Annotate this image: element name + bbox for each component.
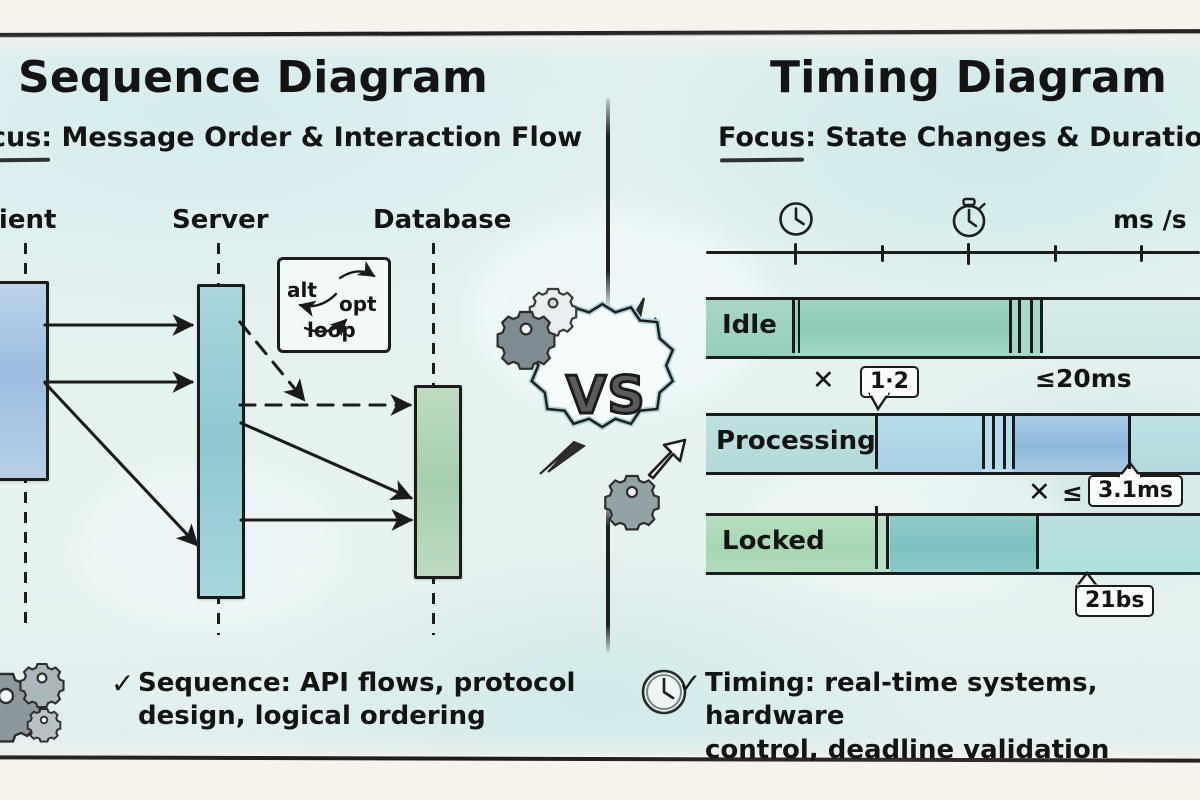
- center-divider-bottom: [606, 500, 610, 652]
- footer-note-right: Timing: real-time systems, hardware cont…: [705, 667, 1200, 767]
- timeline-axis: [706, 251, 1200, 254]
- state-transition: [982, 413, 985, 469]
- gears-icon: [0, 656, 76, 734]
- state-transition: [792, 297, 795, 353]
- state-transition: [992, 413, 995, 469]
- track-segment: [1040, 300, 1200, 356]
- checkmark-icon-left: ✓: [111, 667, 134, 700]
- page-title-right: Timing Diagram: [770, 52, 1167, 103]
- fragment-box: alt opt loop: [277, 257, 391, 353]
- clock-icon: [777, 200, 815, 238]
- state-transition: [875, 506, 878, 569]
- gear-icon: [505, 308, 547, 350]
- subtitle-left: cus: Message Order & Interaction Flow: [0, 122, 582, 153]
- axis-tick: [1140, 245, 1143, 262]
- axis-tick: [794, 243, 797, 265]
- state-transition: [798, 297, 800, 353]
- track-segment: [982, 416, 1012, 472]
- annotation-callout-21bs: 21bs: [1075, 585, 1154, 617]
- fragment-arrows-icon: [280, 260, 388, 350]
- track-label-idle: Idle: [722, 310, 777, 340]
- page-title-left: Sequence Diagram: [18, 52, 488, 103]
- axis-unit-label: ms /s: [1113, 205, 1187, 234]
- state-transition: [1036, 513, 1039, 569]
- state-transition: [1009, 297, 1012, 353]
- callout-pointer-icon: [868, 394, 890, 410]
- track-segment: [1012, 416, 1130, 472]
- axis-tick: [881, 245, 884, 262]
- stopwatch-icon: [950, 196, 990, 240]
- track-segment: [890, 516, 1038, 572]
- annotation-duration-20ms: ≤20ms: [1035, 364, 1132, 393]
- state-transition: [1003, 413, 1006, 469]
- annotation-x-mark: ✕: [812, 365, 835, 396]
- state-transition: [1128, 413, 1131, 469]
- track-segment: [795, 300, 1012, 356]
- annotation-callout-31ms: 3.1ms: [1088, 475, 1183, 507]
- track-label-locked: Locked: [722, 526, 825, 556]
- footer-note-left: Sequence: API flows, protocol design, lo…: [138, 667, 575, 734]
- arrow-up-right-icon: [645, 435, 687, 479]
- axis-tick: [967, 243, 970, 265]
- focus-underline-left: [0, 158, 50, 163]
- state-transition: [1018, 297, 1021, 353]
- axis-tick: [1054, 245, 1057, 262]
- annotation-leq-symbol: ≤: [1062, 478, 1083, 507]
- annotation-x-mark: ✕: [1028, 477, 1051, 508]
- state-transition: [1040, 297, 1043, 353]
- state-transition: [1030, 297, 1033, 353]
- track-label-processing: Processing: [716, 426, 876, 456]
- checkmark-icon-right: ✓: [678, 667, 701, 700]
- sequence-messages: [0, 180, 560, 600]
- track-segment: [877, 416, 982, 472]
- timing-track-idle: [706, 297, 1200, 359]
- state-transition: [886, 513, 889, 569]
- infographic-canvas: Sequence Diagram cus: Message Order & In…: [0, 0, 1200, 800]
- track-segment: [1038, 516, 1200, 572]
- subtitle-right: Focus: State Changes & Duration: [718, 122, 1200, 153]
- state-transition: [1012, 413, 1015, 469]
